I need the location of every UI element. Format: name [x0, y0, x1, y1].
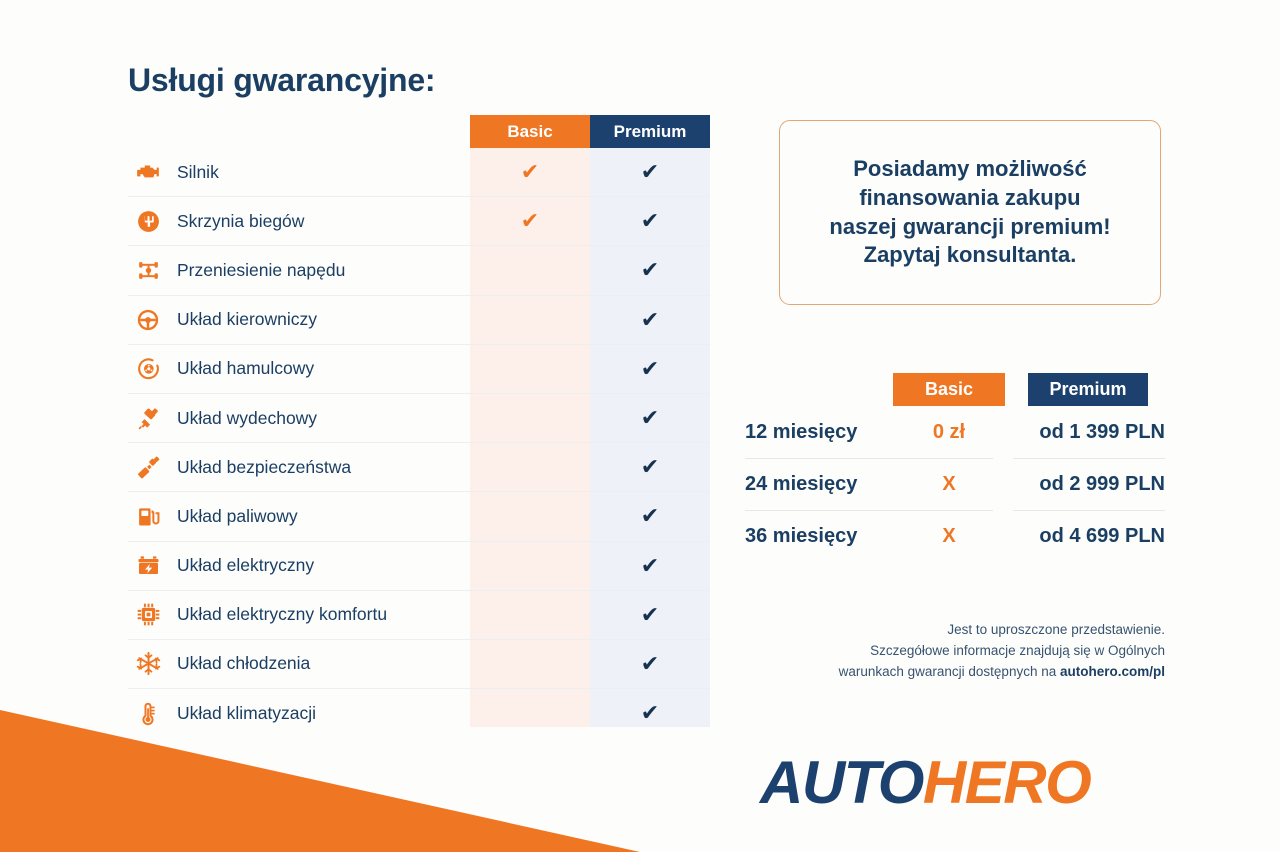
premium-availability-mark: ✔ [590, 604, 710, 626]
premium-availability-mark: ✔ [590, 161, 710, 183]
basic-availability-mark: ✔ [470, 210, 590, 232]
feature-label: Skrzynia biegów [177, 211, 304, 232]
check-icon: ✔ [641, 456, 659, 478]
check-icon: ✔ [641, 309, 659, 331]
premium-availability-mark: ✔ [590, 259, 710, 281]
table-row: Układ elektryczny✔ [128, 542, 710, 591]
pricing-row: 36 miesięcyXod 4 699 PLN [745, 510, 1165, 562]
disclaimer-line-1: Jest to uproszczone przedstawienie. [947, 622, 1165, 637]
premium-availability-mark: ✔ [590, 702, 710, 724]
table-row: Układ bezpieczeństwa✔ [128, 443, 710, 492]
check-icon: ✔ [521, 210, 539, 232]
check-icon: ✔ [641, 259, 659, 281]
callout-line-3: naszej gwarancji premium! [829, 214, 1110, 239]
disclaimer-text: Jest to uproszczone przedstawienie. Szcz… [718, 620, 1165, 683]
feature-label: Układ paliwowy [177, 506, 298, 527]
check-icon: ✔ [641, 210, 659, 232]
feature-label: Układ klimatyzacji [177, 703, 316, 724]
thermometer-icon [128, 701, 168, 726]
logo-hero-text: HERO [923, 749, 1090, 816]
exhaust-icon [128, 406, 168, 431]
feature-label: Układ chłodzenia [177, 653, 310, 674]
feature-label: Układ elektryczny [177, 555, 314, 576]
comparison-header-row: Basic Premium [470, 115, 710, 148]
feature-label: Układ elektryczny komfortu [177, 604, 387, 625]
table-row: Układ kierowniczy✔ [128, 296, 710, 345]
premium-availability-mark: ✔ [590, 555, 710, 577]
logo-auto-text: AUTO [760, 749, 923, 816]
autohero-logo: AUTOHERO [760, 748, 1090, 817]
pricing-basic-value: X [893, 458, 1005, 510]
premium-availability-mark: ✔ [590, 653, 710, 675]
check-icon: ✔ [641, 604, 659, 626]
callout-line-2: finansowania zakupu [859, 185, 1080, 210]
premium-availability-mark: ✔ [590, 407, 710, 429]
premium-availability-mark: ✔ [590, 358, 710, 380]
drivetrain-icon [128, 258, 168, 283]
poster-canvas: Usługi gwarancyjne: Basic Premium Silnik… [0, 0, 1280, 852]
disclaimer-line-3-prefix: warunkach gwarancji dostępnych na [839, 664, 1060, 679]
column-header-premium: Premium [590, 115, 710, 148]
brake-disc-icon [128, 356, 168, 381]
premium-availability-mark: ✔ [590, 456, 710, 478]
column-header-basic: Basic [470, 115, 590, 148]
financing-callout-text: Posiadamy możliwość finansowania zakupu … [829, 155, 1110, 270]
seatbelt-icon [128, 455, 168, 480]
check-icon: ✔ [641, 161, 659, 183]
financing-callout-box: Posiadamy możliwość finansowania zakupu … [779, 120, 1161, 305]
fuel-pump-icon [128, 504, 168, 529]
page-title: Usługi gwarancyjne: [128, 62, 435, 99]
feature-label: Układ kierowniczy [177, 309, 317, 330]
pricing-row: 24 miesięcyXod 2 999 PLN [745, 458, 1165, 510]
premium-availability-mark: ✔ [590, 505, 710, 527]
check-icon: ✔ [641, 653, 659, 675]
feature-label: Układ hamulcowy [177, 358, 314, 379]
basic-availability-mark: ✔ [470, 161, 590, 183]
table-row: Układ chłodzenia✔ [128, 640, 710, 689]
gearbox-icon [128, 209, 168, 234]
pricing-rows: 12 miesięcy0 złod 1 399 PLN24 miesięcyXo… [745, 406, 1165, 562]
feature-label: Silnik [177, 162, 219, 183]
table-row: Układ wydechowy✔ [128, 394, 710, 443]
callout-line-4: Zapytaj konsultanta. [864, 242, 1077, 267]
premium-availability-mark: ✔ [590, 309, 710, 331]
pricing-basic-value: 0 zł [893, 406, 1005, 458]
pricing-header-basic: Basic [893, 373, 1005, 406]
table-row: Układ elektryczny komfortu✔ [128, 591, 710, 640]
check-icon: ✔ [641, 702, 659, 724]
pricing-table: Basic Premium 12 miesięcy0 złod 1 399 PL… [745, 373, 1165, 562]
comparison-rows: Silnik✔✔Skrzynia biegów✔✔Przeniesienie n… [128, 148, 710, 737]
table-row: Układ klimatyzacji✔ [128, 689, 710, 737]
check-icon: ✔ [641, 555, 659, 577]
callout-line-1: Posiadamy możliwość [853, 156, 1087, 181]
pricing-header-row: Basic Premium [745, 373, 1165, 406]
feature-label: Przeniesienie napędu [177, 260, 345, 281]
battery-icon [128, 553, 168, 578]
pricing-row: 12 miesięcy0 złod 1 399 PLN [745, 406, 1165, 458]
check-icon: ✔ [641, 407, 659, 429]
pricing-basic-value: X [893, 510, 1005, 562]
disclaimer-line-2: Szczegółowe informacje znajdują się w Og… [870, 643, 1165, 658]
feature-label: Układ bezpieczeństwa [177, 457, 351, 478]
check-icon: ✔ [641, 358, 659, 380]
table-row: Silnik✔✔ [128, 148, 710, 197]
feature-label: Układ wydechowy [177, 408, 317, 429]
pricing-premium-value: od 1 399 PLN [1013, 406, 1165, 458]
chip-icon [128, 602, 168, 627]
table-row: Układ hamulcowy✔ [128, 345, 710, 394]
snowflake-icon [128, 651, 168, 676]
premium-availability-mark: ✔ [590, 210, 710, 232]
pricing-header-premium: Premium [1028, 373, 1148, 406]
autohero-website-link[interactable]: autohero.com/pl [1060, 664, 1165, 679]
check-icon: ✔ [521, 161, 539, 183]
table-row: Skrzynia biegów✔✔ [128, 197, 710, 246]
pricing-premium-value: od 2 999 PLN [1013, 458, 1165, 510]
check-icon: ✔ [641, 505, 659, 527]
pricing-premium-value: od 4 699 PLN [1013, 510, 1165, 562]
engine-icon [128, 159, 168, 185]
table-row: Przeniesienie napędu✔ [128, 246, 710, 295]
table-row: Układ paliwowy✔ [128, 492, 710, 541]
steering-wheel-icon [128, 307, 168, 333]
